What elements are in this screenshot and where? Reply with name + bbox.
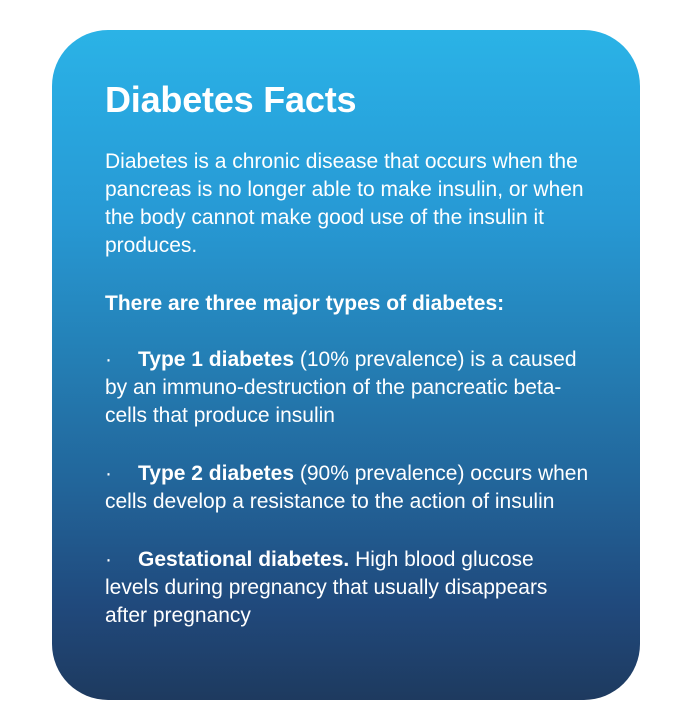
page-title: Diabetes Facts <box>105 78 592 122</box>
types-subheading: There are three major types of diabetes: <box>105 290 592 318</box>
list-item-term: Type 1 diabetes <box>138 348 294 371</box>
diabetes-facts-card: Diabetes Facts Diabetes is a chronic dis… <box>52 30 640 700</box>
page-background: Diabetes Facts Diabetes is a chronic dis… <box>0 0 692 728</box>
bullet-dot-icon: · <box>105 460 138 488</box>
intro-paragraph: Diabetes is a chronic disease that occur… <box>105 148 592 260</box>
diabetes-types-list: ·Type 1 diabetes (10% prevalence) is a c… <box>105 346 592 630</box>
bullet-dot-icon: · <box>105 346 138 374</box>
list-item: ·Gestational diabetes. High blood glucos… <box>105 546 592 630</box>
bullet-dot-icon: · <box>105 546 138 574</box>
list-item-term: Gestational diabetes. <box>138 548 349 571</box>
list-item: ·Type 1 diabetes (10% prevalence) is a c… <box>105 346 592 430</box>
list-item: ·Type 2 diabetes (90% prevalence) occurs… <box>105 460 592 516</box>
list-item-term: Type 2 diabetes <box>138 462 294 485</box>
